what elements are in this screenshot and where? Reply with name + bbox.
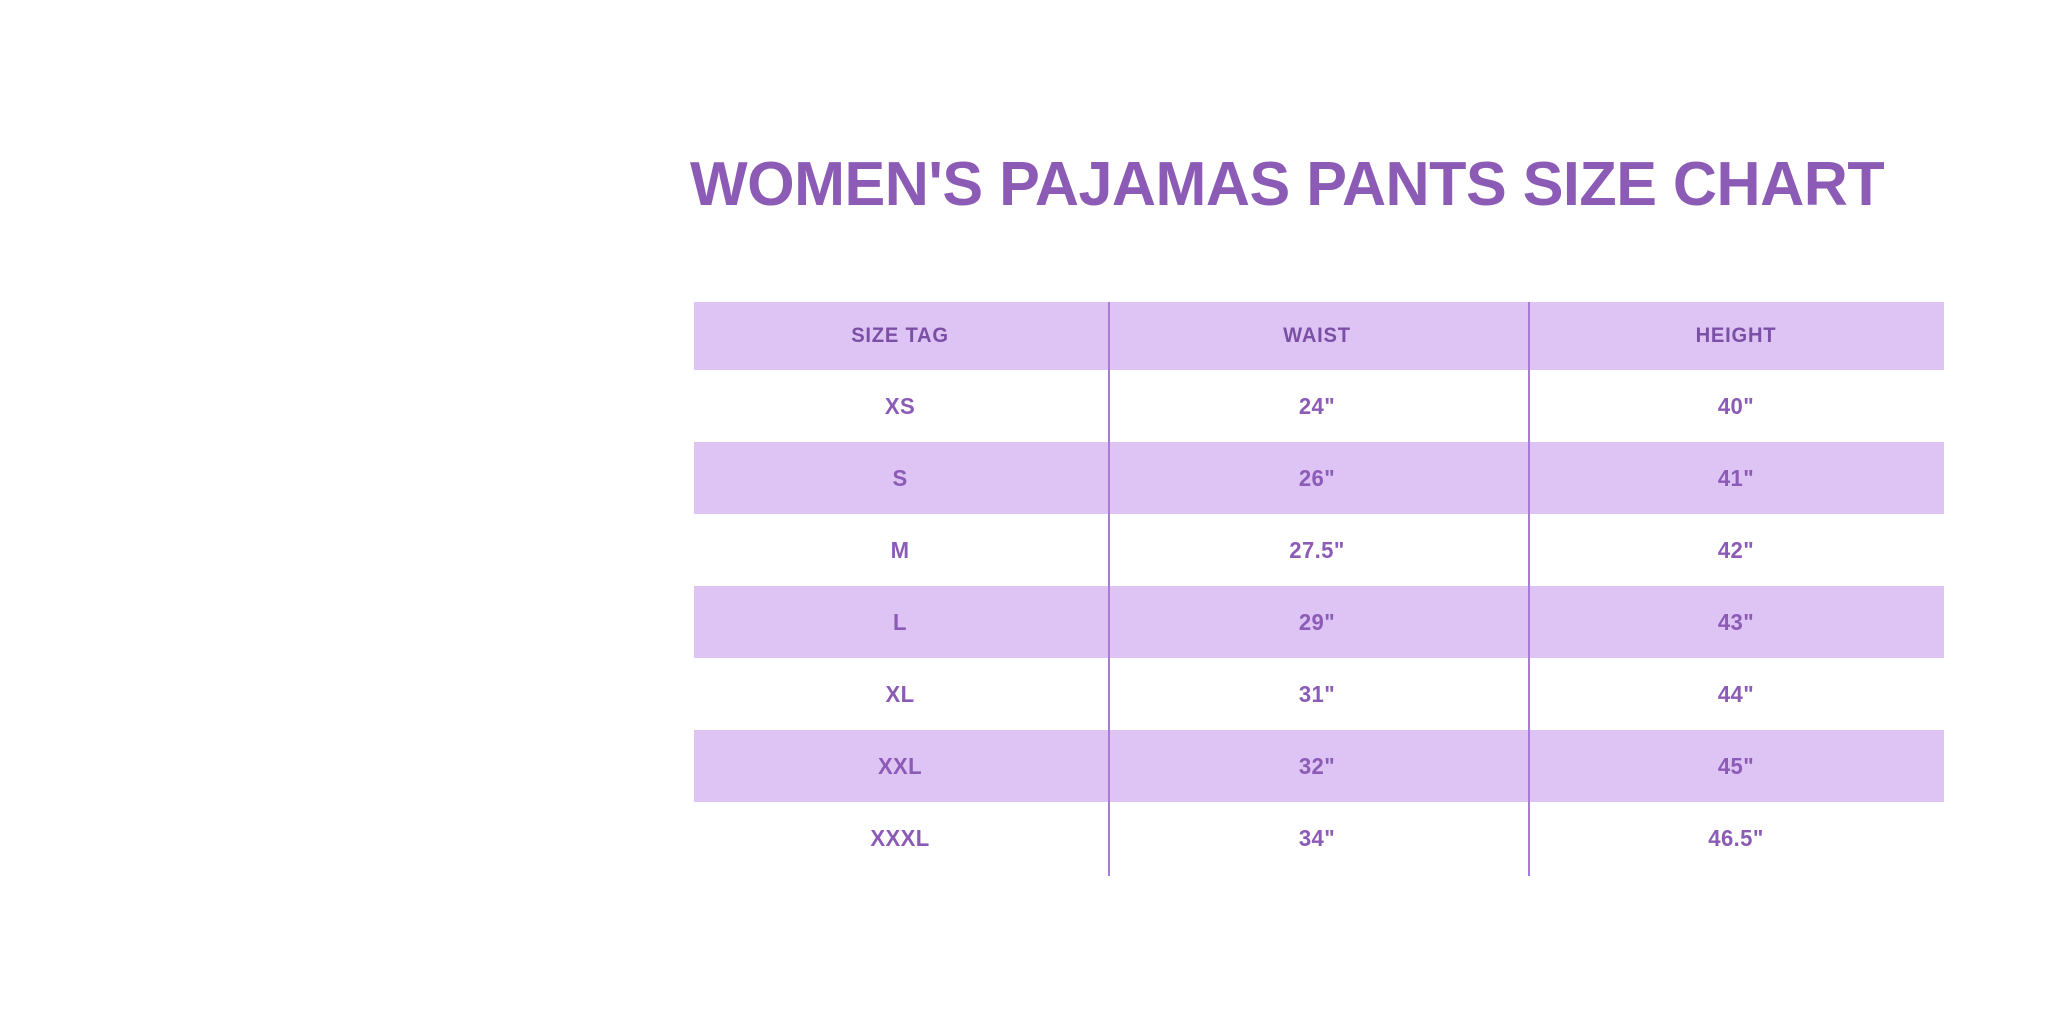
cell-height: 40" xyxy=(1536,370,1935,442)
cell-size-tag: XXXL xyxy=(702,802,1098,874)
cell-size-tag: S xyxy=(702,442,1098,514)
cell-size-tag: L xyxy=(702,586,1098,658)
table-row: XXXL 34" 46.5" xyxy=(694,802,1944,874)
table-row: XS 24" 40" xyxy=(694,370,1944,442)
cell-size-tag: XXL xyxy=(702,730,1098,802)
size-chart-page: WOMEN'S PAJAMAS PANTS SIZE CHART SIZE TA… xyxy=(0,0,2048,1024)
cell-size-tag: XS xyxy=(702,370,1098,442)
cell-height: 43" xyxy=(1536,586,1935,658)
cell-waist: 32" xyxy=(1114,730,1519,802)
cell-height: 42" xyxy=(1536,514,1935,586)
table-row: S 26" 41" xyxy=(694,442,1944,514)
cell-size-tag: XL xyxy=(702,658,1098,730)
table-row: L 29" 43" xyxy=(694,586,1944,658)
table-row: M 27.5" 42" xyxy=(694,514,1944,586)
cell-waist: 31" xyxy=(1114,658,1519,730)
cell-waist: 26" xyxy=(1114,442,1519,514)
column-header-size-tag: SIZE TAG xyxy=(702,302,1098,370)
size-chart-table: SIZE TAG WAIST HEIGHT XS 24" 40" S 26" 4… xyxy=(694,302,1944,874)
column-header-waist: WAIST xyxy=(1114,302,1519,370)
table-row: XL 31" 44" xyxy=(694,658,1944,730)
table-header-row: SIZE TAG WAIST HEIGHT xyxy=(694,302,1944,370)
page-title: WOMEN'S PAJAMAS PANTS SIZE CHART xyxy=(690,150,2000,220)
cell-height: 44" xyxy=(1536,658,1935,730)
size-chart-table-container: SIZE TAG WAIST HEIGHT XS 24" 40" S 26" 4… xyxy=(694,302,1944,876)
cell-waist: 27.5" xyxy=(1114,514,1519,586)
table-row: XXL 32" 45" xyxy=(694,730,1944,802)
cell-waist: 24" xyxy=(1114,370,1519,442)
table-body: XS 24" 40" S 26" 41" M 27.5" 42" L 29" xyxy=(694,370,1944,874)
cell-waist: 29" xyxy=(1114,586,1519,658)
cell-waist: 34" xyxy=(1114,802,1519,874)
cell-size-tag: M xyxy=(702,514,1098,586)
cell-height: 45" xyxy=(1536,730,1935,802)
column-header-height: HEIGHT xyxy=(1536,302,1935,370)
cell-height: 46.5" xyxy=(1536,802,1935,874)
cell-height: 41" xyxy=(1536,442,1935,514)
table-header: SIZE TAG WAIST HEIGHT xyxy=(694,302,1944,370)
